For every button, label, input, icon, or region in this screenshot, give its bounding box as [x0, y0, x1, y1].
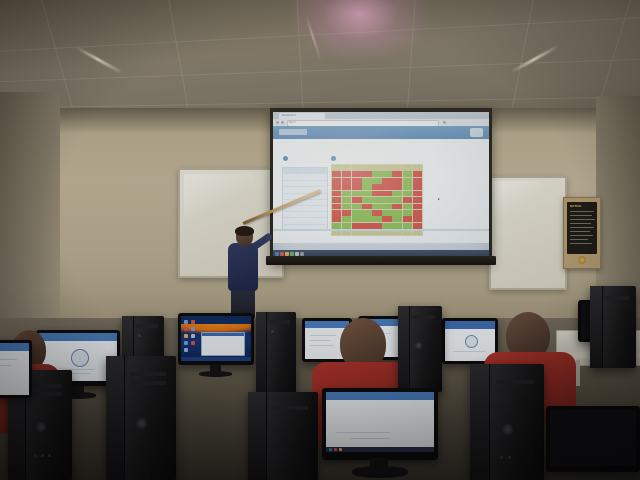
wall-poster: NOTICE — [563, 197, 601, 269]
matrix-cell[interactable] — [413, 223, 422, 229]
matrix-cell[interactable] — [372, 197, 381, 203]
matrix-cell[interactable] — [413, 165, 422, 171]
matrix-cell[interactable] — [342, 210, 351, 216]
matrix-cell[interactable] — [382, 178, 391, 184]
matrix-cell[interactable] — [342, 171, 351, 177]
matrix-cell[interactable] — [403, 216, 412, 222]
poster-inner: NOTICE — [567, 202, 597, 254]
ceiling-light-flare — [290, 0, 430, 62]
matrix-cell[interactable] — [413, 216, 422, 222]
matrix-cell[interactable] — [332, 178, 341, 184]
matrix-cell[interactable] — [332, 165, 341, 171]
legend-icon-1 — [283, 156, 288, 161]
matrix-cell[interactable] — [392, 210, 401, 216]
matrix-cell[interactable] — [342, 204, 351, 210]
matrix-cell[interactable] — [362, 223, 371, 229]
matrix-cell[interactable] — [362, 171, 371, 177]
matrix-cell[interactable] — [352, 210, 361, 216]
menu-icon[interactable] — [443, 121, 446, 124]
whiteboard-right — [489, 176, 567, 290]
forward-icon[interactable] — [281, 121, 284, 124]
matrix-cell[interactable] — [342, 216, 351, 222]
matrix-cell[interactable] — [362, 165, 371, 171]
matrix-cell[interactable] — [382, 191, 391, 197]
browser-tab-label: Dashboard — [282, 114, 296, 117]
app-logo[interactable] — [279, 129, 307, 135]
matrix-cell[interactable] — [362, 191, 371, 197]
matrix-cell[interactable] — [332, 184, 341, 190]
screen-center-back[interactable] — [181, 316, 251, 361]
matrix-cell[interactable] — [352, 216, 361, 222]
matrix-cell[interactable] — [342, 191, 351, 197]
screen-front-left-edge[interactable] — [0, 343, 29, 395]
matrix-cell[interactable] — [332, 171, 341, 177]
matrix-cell[interactable] — [362, 197, 371, 203]
matrix-cell[interactable] — [382, 216, 391, 222]
app-footer-bar — [273, 229, 489, 231]
matrix-cell[interactable] — [352, 197, 361, 203]
matrix-cell[interactable] — [392, 204, 401, 210]
poster-seal-icon — [578, 256, 586, 264]
presenter — [222, 227, 268, 323]
parameter-table — [282, 167, 328, 231]
matrix-cell[interactable] — [382, 197, 391, 203]
projected-screen: Dashboard http:// — [273, 112, 489, 257]
matrix-cell[interactable] — [372, 165, 381, 171]
screen-front-center[interactable] — [326, 392, 434, 452]
pc-tower-right-rear — [590, 286, 636, 368]
status-matrix[interactable] — [331, 164, 423, 236]
pc-tower-front-center — [248, 392, 318, 480]
matrix-cell[interactable] — [392, 178, 401, 184]
matrix-cell[interactable] — [403, 165, 412, 171]
pc-tower-front-center-left — [106, 356, 176, 480]
matrix-cell[interactable] — [392, 171, 401, 177]
matrix-cell[interactable] — [382, 223, 391, 229]
matrix-cell[interactable] — [413, 210, 422, 216]
matrix-cell[interactable] — [332, 204, 341, 210]
matrix-cell[interactable] — [413, 178, 422, 184]
matrix-cell[interactable] — [372, 223, 381, 229]
matrix-cell[interactable] — [392, 191, 401, 197]
status-matrix-grid — [332, 165, 422, 235]
matrix-cell[interactable] — [332, 216, 341, 222]
matrix-cell[interactable] — [372, 204, 381, 210]
matrix-cell[interactable] — [413, 184, 422, 190]
monitor-front-center — [322, 388, 438, 460]
legend-icon-2 — [331, 156, 336, 161]
matrix-cell[interactable] — [352, 204, 361, 210]
matrix-cell[interactable] — [342, 223, 351, 229]
matrix-cell[interactable] — [403, 178, 412, 184]
matrix-cell[interactable] — [382, 210, 391, 216]
matrix-cell[interactable] — [352, 171, 361, 177]
back-icon[interactable] — [276, 121, 279, 124]
monitor-base — [352, 466, 408, 478]
matrix-cell[interactable] — [372, 171, 381, 177]
matrix-cell[interactable] — [403, 197, 412, 203]
emblem-icon — [465, 335, 478, 348]
matrix-cell[interactable] — [382, 184, 391, 190]
matrix-cell[interactable] — [342, 197, 351, 203]
matrix-cell[interactable] — [372, 184, 381, 190]
matrix-cell[interactable] — [332, 210, 341, 216]
matrix-cell[interactable] — [372, 216, 381, 222]
monitor-front-right — [546, 406, 640, 472]
matrix-cell[interactable] — [392, 223, 401, 229]
matrix-cell[interactable] — [382, 171, 391, 177]
matrix-cell[interactable] — [413, 204, 422, 210]
left-wall — [0, 92, 60, 342]
matrix-cell[interactable] — [332, 223, 341, 229]
matrix-cell[interactable] — [403, 204, 412, 210]
ceiling-light-right — [511, 46, 558, 74]
matrix-cell[interactable] — [392, 197, 401, 203]
matrix-cell[interactable] — [403, 184, 412, 190]
matrix-cell[interactable] — [342, 184, 351, 190]
matrix-cell[interactable] — [392, 216, 401, 222]
matrix-cell[interactable] — [403, 210, 412, 216]
matrix-cell[interactable] — [362, 204, 371, 210]
poster-title: NOTICE — [570, 204, 581, 208]
matrix-cell[interactable] — [332, 191, 341, 197]
matrix-cell[interactable] — [332, 197, 341, 203]
matrix-cell[interactable] — [382, 165, 391, 171]
matrix-cell[interactable] — [413, 171, 422, 177]
url-text: http:// — [289, 121, 296, 124]
matrix-cell[interactable] — [392, 184, 401, 190]
matrix-cell[interactable] — [372, 210, 381, 216]
presenter-hair — [235, 226, 254, 236]
projection-screen-bottom-bar — [266, 256, 496, 265]
matrix-cell[interactable] — [362, 216, 371, 222]
matrix-cell[interactable] — [403, 191, 412, 197]
matrix-cell[interactable] — [362, 210, 371, 216]
matrix-cell[interactable] — [362, 178, 371, 184]
pc-tower-front-right — [470, 364, 544, 480]
matrix-cell[interactable] — [362, 184, 371, 190]
ceiling-light-left — [75, 46, 122, 74]
monitor-base — [199, 371, 232, 377]
desktop-taskbar[interactable] — [181, 357, 251, 361]
classroom-photo: NOTICE Dashboard http:// — [0, 0, 640, 480]
matrix-cell[interactable] — [352, 184, 361, 190]
matrix-cell[interactable] — [372, 191, 381, 197]
pc-tower-back-far-right — [398, 306, 442, 392]
monitor-center-back — [178, 313, 254, 365]
matrix-cell[interactable] — [392, 165, 401, 171]
user-avatar[interactable] — [470, 128, 483, 137]
matrix-cell[interactable] — [403, 223, 412, 229]
back-table-leg — [576, 360, 580, 386]
pc-tower-back-right — [256, 312, 296, 396]
matrix-cell[interactable] — [372, 178, 381, 184]
desktop-dialog[interactable] — [201, 332, 245, 356]
matrix-cell[interactable] — [403, 171, 412, 177]
matrix-cell[interactable] — [342, 165, 351, 171]
matrix-cell[interactable] — [413, 197, 422, 203]
matrix-cell[interactable] — [413, 191, 422, 197]
matrix-cell[interactable] — [382, 204, 391, 210]
matrix-cell[interactable] — [352, 178, 361, 184]
matrix-cell[interactable] — [352, 191, 361, 197]
matrix-cell[interactable] — [352, 223, 361, 229]
screen-front-right[interactable] — [550, 410, 636, 466]
matrix-cell[interactable] — [352, 165, 361, 171]
matrix-cell[interactable] — [342, 178, 351, 184]
monitor-front-left-edge — [0, 340, 32, 398]
emblem-icon — [71, 349, 89, 367]
